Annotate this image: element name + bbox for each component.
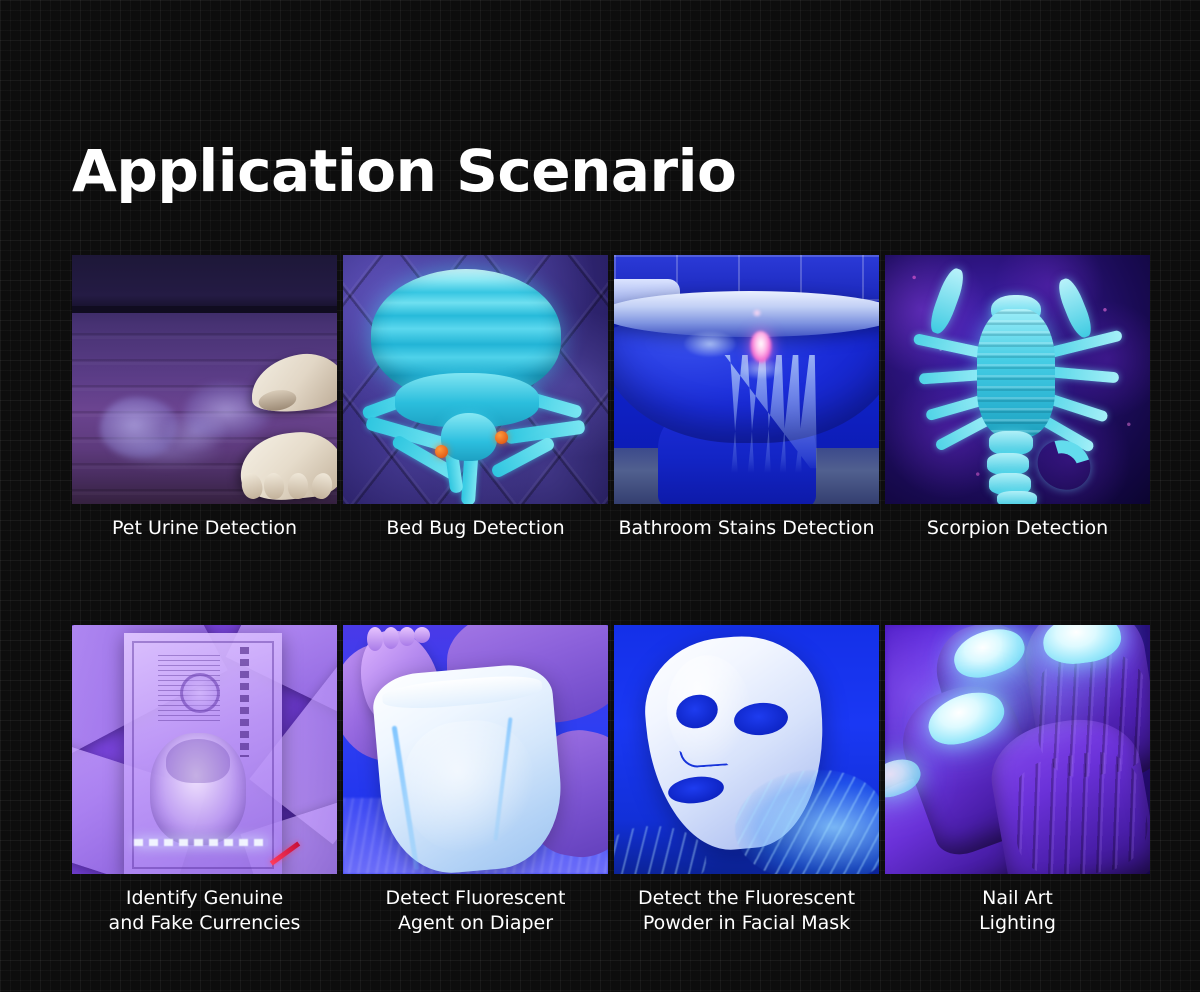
page-title: Application Scenario	[72, 142, 736, 200]
scenario-image-nail-art-lighting	[885, 625, 1150, 874]
scenario-card-pet-urine-detection[interactable]: Pet Urine Detection	[72, 255, 337, 541]
scenario-caption: Detect the Fluorescent Powder in Facial …	[638, 886, 855, 936]
scenario-caption: Scorpion Detection	[927, 516, 1108, 541]
scenario-caption: Bed Bug Detection	[386, 516, 564, 541]
scenario-row-1: Pet Urine Detection	[72, 255, 1135, 541]
scenario-card-bathroom-stains-detection[interactable]: Bathroom Stains Detection	[614, 255, 879, 541]
scenario-card-detect-fluorescent-powder-facial-mask[interactable]: Detect the Fluorescent Powder in Facial …	[614, 625, 879, 936]
scenario-caption: Bathroom Stains Detection	[618, 516, 874, 541]
application-scenario-page: Application Scenario Pet Urine	[0, 0, 1200, 992]
scenario-card-detect-fluorescent-agent-diaper[interactable]: Detect Fluorescent Agent on Diaper	[343, 625, 608, 936]
scenario-image-scorpion-detection	[885, 255, 1150, 504]
scenario-caption: Nail Art Lighting	[979, 886, 1056, 936]
scenario-card-scorpion-detection[interactable]: Scorpion Detection	[885, 255, 1150, 541]
scenario-image-bed-bug-detection	[343, 255, 608, 504]
scenario-image-identify-currencies	[72, 625, 337, 874]
scenario-image-detect-fluorescent-agent-diaper	[343, 625, 608, 874]
scenario-caption: Detect Fluorescent Agent on Diaper	[386, 886, 566, 936]
scenario-card-nail-art-lighting[interactable]: Nail Art Lighting	[885, 625, 1150, 936]
scenario-image-pet-urine-detection	[72, 255, 337, 504]
scenario-grid: Pet Urine Detection	[72, 255, 1135, 936]
scenario-caption: Pet Urine Detection	[112, 516, 297, 541]
scenario-card-identify-currencies[interactable]: Identify Genuine and Fake Currencies	[72, 625, 337, 936]
scenario-row-2: Identify Genuine and Fake Currencies Det…	[72, 625, 1135, 936]
scenario-image-bathroom-stains-detection	[614, 255, 879, 504]
scenario-image-detect-fluorescent-powder-facial-mask	[614, 625, 879, 874]
scenario-card-bed-bug-detection[interactable]: Bed Bug Detection	[343, 255, 608, 541]
scenario-caption: Identify Genuine and Fake Currencies	[109, 886, 301, 936]
